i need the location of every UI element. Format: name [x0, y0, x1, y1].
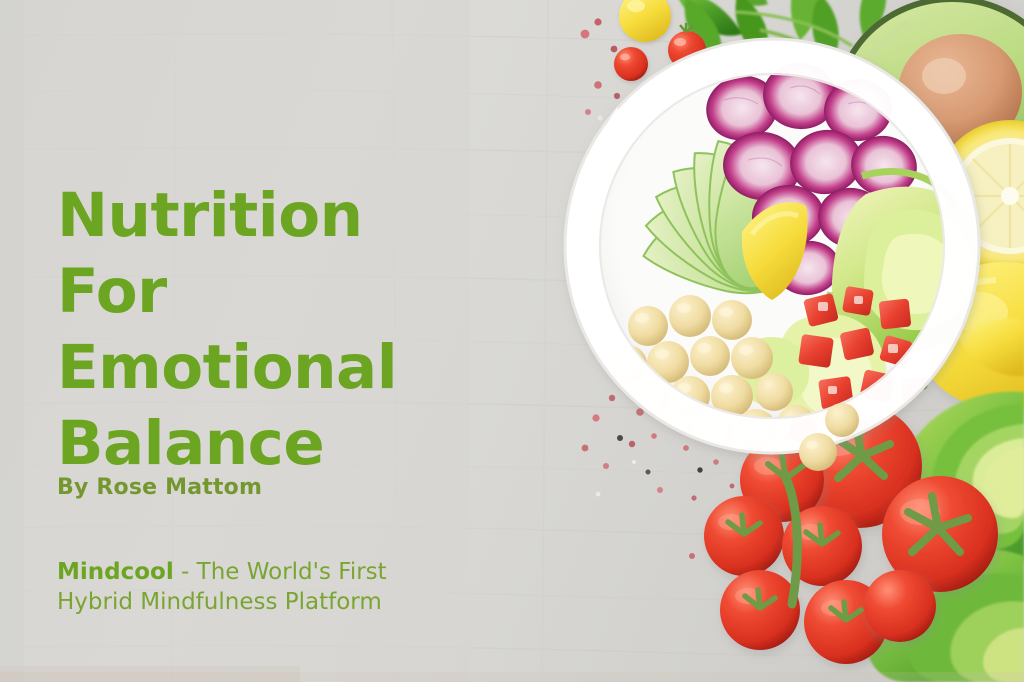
- left-edge-strip: [0, 0, 24, 682]
- brand-name: Mindcool: [57, 559, 174, 585]
- presentation-slide: Nutrition For Emotional Balance By Rose …: [0, 0, 1024, 682]
- brand-tagline: Mindcool - The World's First Hybrid Mind…: [57, 557, 457, 617]
- page-title: Nutrition For Emotional Balance: [57, 178, 457, 482]
- author-byline: By Rose Mattom: [57, 475, 262, 500]
